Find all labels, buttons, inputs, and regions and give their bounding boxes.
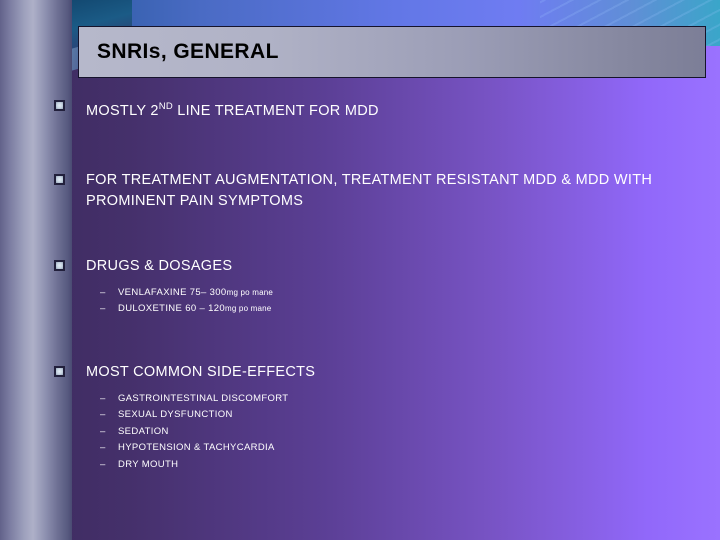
presentation-slide: SNRIs, GENERAL MOSTLY 2ND LINE TREATMENT… xyxy=(0,0,720,540)
dash-bullet-icon: – xyxy=(100,285,106,302)
sub-item-unit: mg po mane xyxy=(227,288,273,297)
bullet-item: DRUGS & DOSAGES –VENLAFAXINE 75– 300mg p… xyxy=(0,256,720,318)
sub-list-item: –DULOXETINE 60 – 120mg po mane xyxy=(86,301,702,318)
square-bullet-icon xyxy=(54,100,65,111)
slide-title: SNRIs, GENERAL xyxy=(97,40,279,64)
slide-body: MOSTLY 2ND LINE TREATMENT FOR MDD FOR TR… xyxy=(0,96,720,473)
bullet-item: MOST COMMON SIDE-EFFECTS –GASTROINTESTIN… xyxy=(0,362,720,474)
dash-bullet-icon: – xyxy=(100,440,106,457)
sub-item-label: SEXUAL DYSFUNCTION xyxy=(118,409,233,420)
bullet-label: MOSTLY 2ND LINE TREATMENT FOR MDD xyxy=(86,103,379,119)
sub-list-item: –DRY MOUTH xyxy=(86,457,702,474)
slide-title-box: SNRIs, GENERAL xyxy=(78,26,706,78)
sub-item-unit: mg po mane xyxy=(225,304,271,313)
bullet-label: MOST COMMON SIDE-EFFECTS xyxy=(86,364,315,380)
bullet-label: FOR TREATMENT AUGMENTATION, TREATMENT RE… xyxy=(86,172,652,209)
bullet-item: FOR TREATMENT AUGMENTATION, TREATMENT RE… xyxy=(0,170,720,212)
square-bullet-icon xyxy=(54,366,65,377)
sub-list-item: –HYPOTENSION & TACHYCARDIA xyxy=(86,440,702,457)
sub-item-label: DRY MOUTH xyxy=(118,459,178,470)
sub-list: –VENLAFAXINE 75– 300mg po mane –DULOXETI… xyxy=(86,285,702,318)
bullet-label: DRUGS & DOSAGES xyxy=(86,258,232,274)
sub-list-item: –SEXUAL DYSFUNCTION xyxy=(86,407,702,424)
square-bullet-icon xyxy=(54,174,65,185)
ordinal-superscript: ND xyxy=(159,101,173,112)
sub-item-label: VENLAFAXINE 75– 300 xyxy=(118,287,227,298)
sub-list-item: –SEDATION xyxy=(86,424,702,441)
dash-bullet-icon: – xyxy=(100,301,106,318)
sub-list: –GASTROINTESTINAL DISCOMFORT –SEXUAL DYS… xyxy=(86,391,702,474)
sub-item-label: HYPOTENSION & TACHYCARDIA xyxy=(118,442,275,453)
sub-item-label: GASTROINTESTINAL DISCOMFORT xyxy=(118,393,288,404)
square-bullet-icon xyxy=(54,260,65,271)
sub-item-label: DULOXETINE 60 – 120 xyxy=(118,303,225,314)
dash-bullet-icon: – xyxy=(100,407,106,424)
sub-list-item: –VENLAFAXINE 75– 300mg po mane xyxy=(86,285,702,302)
sub-item-label: SEDATION xyxy=(118,426,169,437)
dash-bullet-icon: – xyxy=(100,424,106,441)
dash-bullet-icon: – xyxy=(100,457,106,474)
bullet-item: MOSTLY 2ND LINE TREATMENT FOR MDD xyxy=(0,96,720,122)
dash-bullet-icon: – xyxy=(100,391,106,408)
sub-list-item: –GASTROINTESTINAL DISCOMFORT xyxy=(86,391,702,408)
